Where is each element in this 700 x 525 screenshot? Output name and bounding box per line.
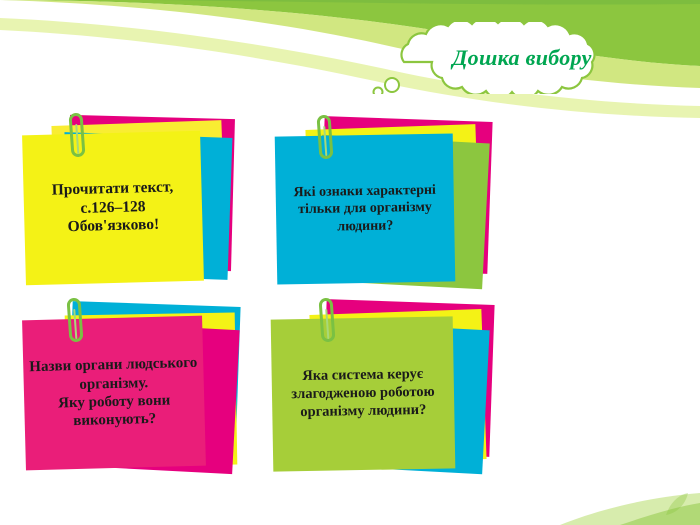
slide: Дошка вибору Прочитати текст, с.126–128 …: [0, 0, 700, 525]
paperclip-icon: [316, 115, 333, 160]
leaf-corner-icon: [664, 491, 690, 517]
paperclip-icon: [318, 298, 335, 343]
title-cloud: Дошка вибору: [366, 22, 666, 94]
note-text: Прочитати текст, с.126–128 Обов'язково!: [22, 131, 204, 286]
paperclip-icon: [66, 298, 83, 343]
note-card-read-text[interactable]: Прочитати текст, с.126–128 Обов'язково!: [18, 117, 248, 292]
slide-title: Дошка вибору: [366, 22, 666, 94]
note-card-which-system[interactable]: Яка система керує злагодженою роботою ор…: [262, 300, 507, 480]
note-card-human-signs[interactable]: Які ознаки характерні тільки для організ…: [262, 117, 502, 297]
note-text: Яка система керує злагодженою роботою ор…: [271, 316, 456, 471]
paperclip-icon: [68, 113, 85, 158]
note-card-name-organs[interactable]: Назви органи людського організму. Яку ро…: [18, 300, 253, 480]
note-text: Назви органи людського організму. Яку ро…: [22, 316, 206, 471]
note-text: Які ознаки характерні тільки для організ…: [275, 133, 456, 284]
